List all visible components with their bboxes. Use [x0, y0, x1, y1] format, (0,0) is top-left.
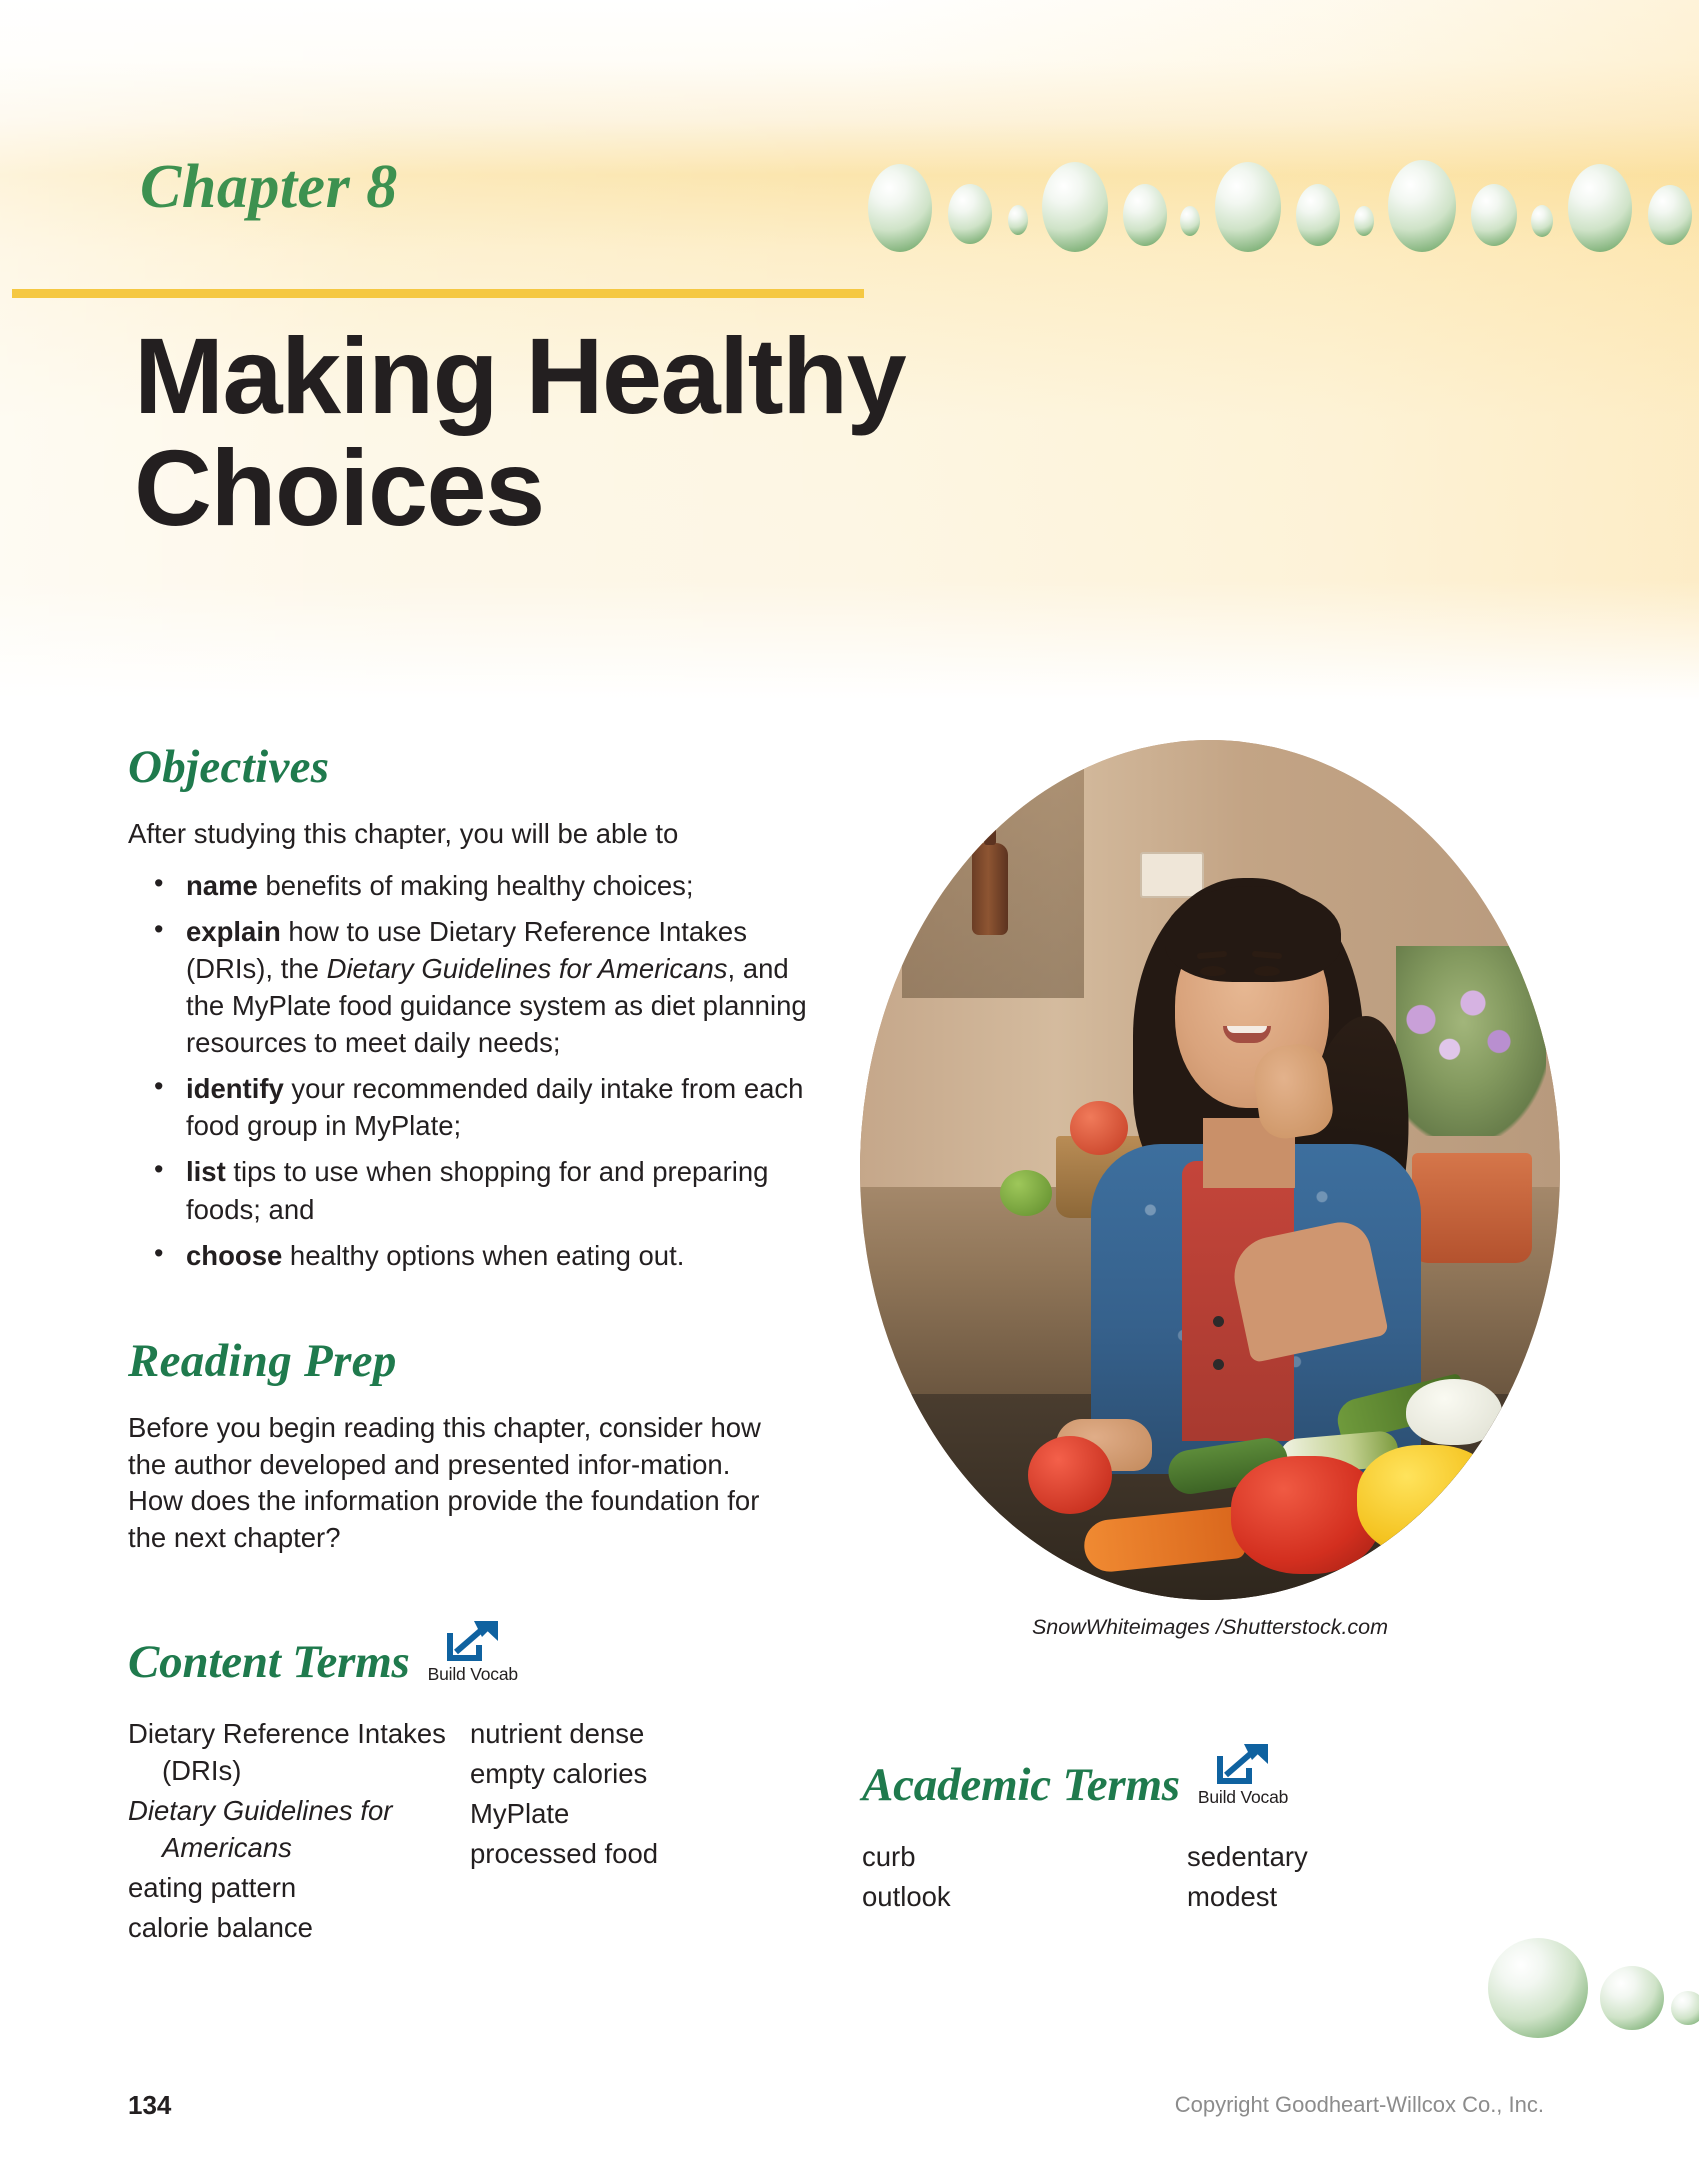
- decorative-bubble: [1296, 184, 1340, 246]
- decorative-bubble: [1388, 160, 1456, 252]
- academic-term: modest: [1187, 1878, 1512, 1915]
- decorative-bubble: [868, 164, 932, 252]
- content-terms-header: Content Terms Build Vocab: [128, 1617, 818, 1689]
- photo-shirt-button: [1213, 1316, 1224, 1327]
- chapter-photo: [860, 740, 1560, 1600]
- objective-italic-title: Dietary Guidelines for Americans: [327, 953, 728, 984]
- decorative-bubble-band-top: [870, 152, 1699, 262]
- decorative-bubble: [1531, 205, 1553, 237]
- photo-fruit-green: [1000, 1170, 1052, 1216]
- academic-terms-columns: curb outlook sedentary modest: [862, 1838, 1562, 1918]
- objectives-lead: After studying this chapter, you will be…: [128, 816, 818, 853]
- content-term: processed food: [470, 1835, 790, 1872]
- decorative-bubble: [1671, 1991, 1699, 2025]
- content-term: eating pattern: [128, 1869, 470, 1906]
- share-export-icon[interactable]: [446, 1617, 500, 1663]
- share-export-icon[interactable]: [1216, 1740, 1270, 1786]
- academic-terms-header: Academic Terms Build Vocab: [862, 1740, 1562, 1812]
- decorative-bubble: [1648, 185, 1692, 245]
- content-term: MyPlate: [470, 1795, 790, 1832]
- copyright-notice: Copyright Goodheart-Willcox Co., Inc.: [1175, 2092, 1544, 2118]
- academic-term: sedentary: [1187, 1838, 1512, 1875]
- photo-credit: SnowWhiteimages /Shutterstock.com: [860, 1615, 1560, 1640]
- photo-fruit-apple: [1070, 1101, 1128, 1155]
- objectives-list: name benefits of making healthy choices;…: [128, 867, 818, 1274]
- photo-shirt-button: [1213, 1359, 1224, 1370]
- objective-verb: explain: [186, 916, 281, 947]
- textbook-page: Chapter 8 Making Healthy Choices Objecti…: [0, 0, 1699, 2175]
- objective-item: name benefits of making healthy choices;: [128, 867, 818, 904]
- photo-woman-smile: [1223, 1026, 1271, 1043]
- objective-verb: list: [186, 1156, 226, 1187]
- photo-flower-pot: [1412, 1153, 1532, 1263]
- page-title-line2: Choices: [134, 432, 1084, 544]
- content-terms-col-1: Dietary Reference Intakes (DRIs) Dietary…: [128, 1715, 470, 1950]
- objective-text: benefits of making healthy choices;: [258, 870, 694, 901]
- decorative-bubble-band-bottom: [1480, 1930, 1699, 2050]
- gold-divider-rule: [12, 289, 864, 298]
- build-vocab-label: Build Vocab: [1198, 1787, 1288, 1808]
- banner-bottom-fade: [0, 580, 1699, 700]
- photo-circle-mask: [860, 740, 1560, 1600]
- photo-vegetable-radish: [1406, 1379, 1502, 1445]
- decorative-bubble: [1215, 162, 1281, 252]
- objective-item: choose healthy options when eating out.: [128, 1237, 818, 1274]
- page-title: Making Healthy Choices: [134, 320, 1084, 545]
- build-vocab-academic-terms[interactable]: Build Vocab: [1198, 1740, 1288, 1812]
- photo-woman-eye-left: [1200, 966, 1226, 976]
- objective-text: tips to use when shopping for and prepar…: [186, 1156, 768, 1224]
- decorative-bubble: [1488, 1938, 1588, 2038]
- page-title-line1: Making Healthy: [134, 320, 1084, 432]
- content-term: Dietary Guidelines for Americans: [128, 1792, 470, 1866]
- decorative-bubble: [1600, 1966, 1664, 2030]
- academic-terms-col-1: curb outlook: [862, 1838, 1187, 1918]
- objective-verb: identify: [186, 1073, 284, 1104]
- photo-woman-hair-front: [1165, 886, 1341, 982]
- academic-term: curb: [862, 1838, 1187, 1875]
- photo-light-switch: [1140, 852, 1204, 898]
- objective-item: list tips to use when shopping for and p…: [128, 1153, 818, 1227]
- objectives-heading: Objectives: [128, 740, 818, 794]
- decorative-bubble: [948, 184, 992, 244]
- academic-terms-section: Academic Terms Build Vocab curb outlook …: [862, 1740, 1562, 1918]
- academic-terms-col-2: sedentary modest: [1187, 1838, 1512, 1918]
- decorative-bubble: [1123, 184, 1167, 246]
- content-terms-col-2: nutrient dense empty calories MyPlate pr…: [470, 1715, 790, 1950]
- photo-flowers: [1395, 981, 1525, 1091]
- decorative-bubble: [1042, 162, 1108, 252]
- objective-item: identify your recommended daily intake f…: [128, 1070, 818, 1144]
- objective-verb: name: [186, 870, 258, 901]
- left-column: Objectives After studying this chapter, …: [128, 740, 818, 1949]
- content-term: Dietary Reference Intakes (DRIs): [128, 1715, 470, 1789]
- academic-term: outlook: [862, 1878, 1187, 1915]
- photo-bottle: [972, 843, 1008, 935]
- decorative-bubble: [1180, 206, 1200, 236]
- decorative-bubble: [1568, 164, 1632, 252]
- content-terms-heading: Content Terms: [128, 1635, 410, 1689]
- decorative-bubble: [1008, 205, 1028, 235]
- reading-prep-heading: Reading Prep: [128, 1334, 818, 1388]
- page-number: 134: [128, 2090, 171, 2121]
- chapter-label: Chapter 8: [140, 152, 398, 223]
- content-terms-columns: Dietary Reference Intakes (DRIs) Dietary…: [128, 1715, 818, 1950]
- content-term: empty calories: [470, 1755, 790, 1792]
- decorative-bubble: [1471, 184, 1517, 246]
- photo-woman-eye-right: [1254, 966, 1280, 976]
- decorative-bubble: [1354, 206, 1374, 236]
- objective-text: healthy options when eating out.: [282, 1240, 684, 1271]
- content-term: calorie balance: [128, 1909, 470, 1946]
- reading-prep-body: Before you begin reading this chapter, c…: [128, 1410, 783, 1557]
- content-term: nutrient dense: [470, 1715, 790, 1752]
- photo-vegetable-tomato: [1028, 1436, 1112, 1514]
- academic-terms-heading: Academic Terms: [862, 1758, 1180, 1812]
- photo-vegetable-yellow-pepper: [1357, 1445, 1499, 1557]
- build-vocab-label: Build Vocab: [428, 1664, 518, 1685]
- objective-verb: choose: [186, 1240, 282, 1271]
- objective-item: explain how to use Dietary Reference Int…: [128, 913, 818, 1062]
- build-vocab-content-terms[interactable]: Build Vocab: [428, 1617, 518, 1689]
